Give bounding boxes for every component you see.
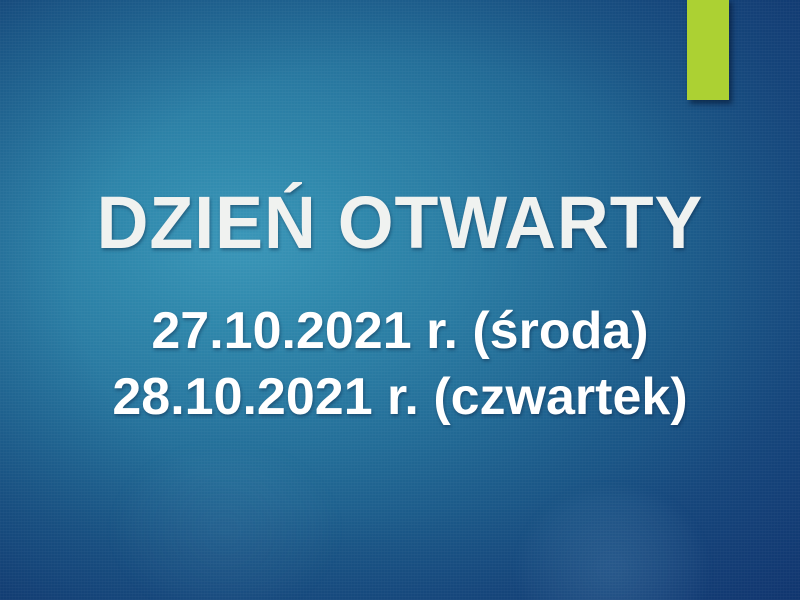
date-line-second: 28.10.2021 r. (czwartek)	[0, 365, 800, 431]
background-light-blob-left	[120, 455, 330, 600]
slide-title: DZIEŃ OTWARTY	[12, 186, 788, 260]
slide-canvas: DZIEŃ OTWARTY 27.10.2021 r. (środa) 28.1…	[0, 0, 800, 600]
green-accent-bar	[687, 0, 729, 100]
date-line-first: 27.10.2021 r. (środa)	[0, 299, 800, 365]
date-list: 27.10.2021 r. (środa) 28.10.2021 r. (czw…	[0, 299, 800, 430]
